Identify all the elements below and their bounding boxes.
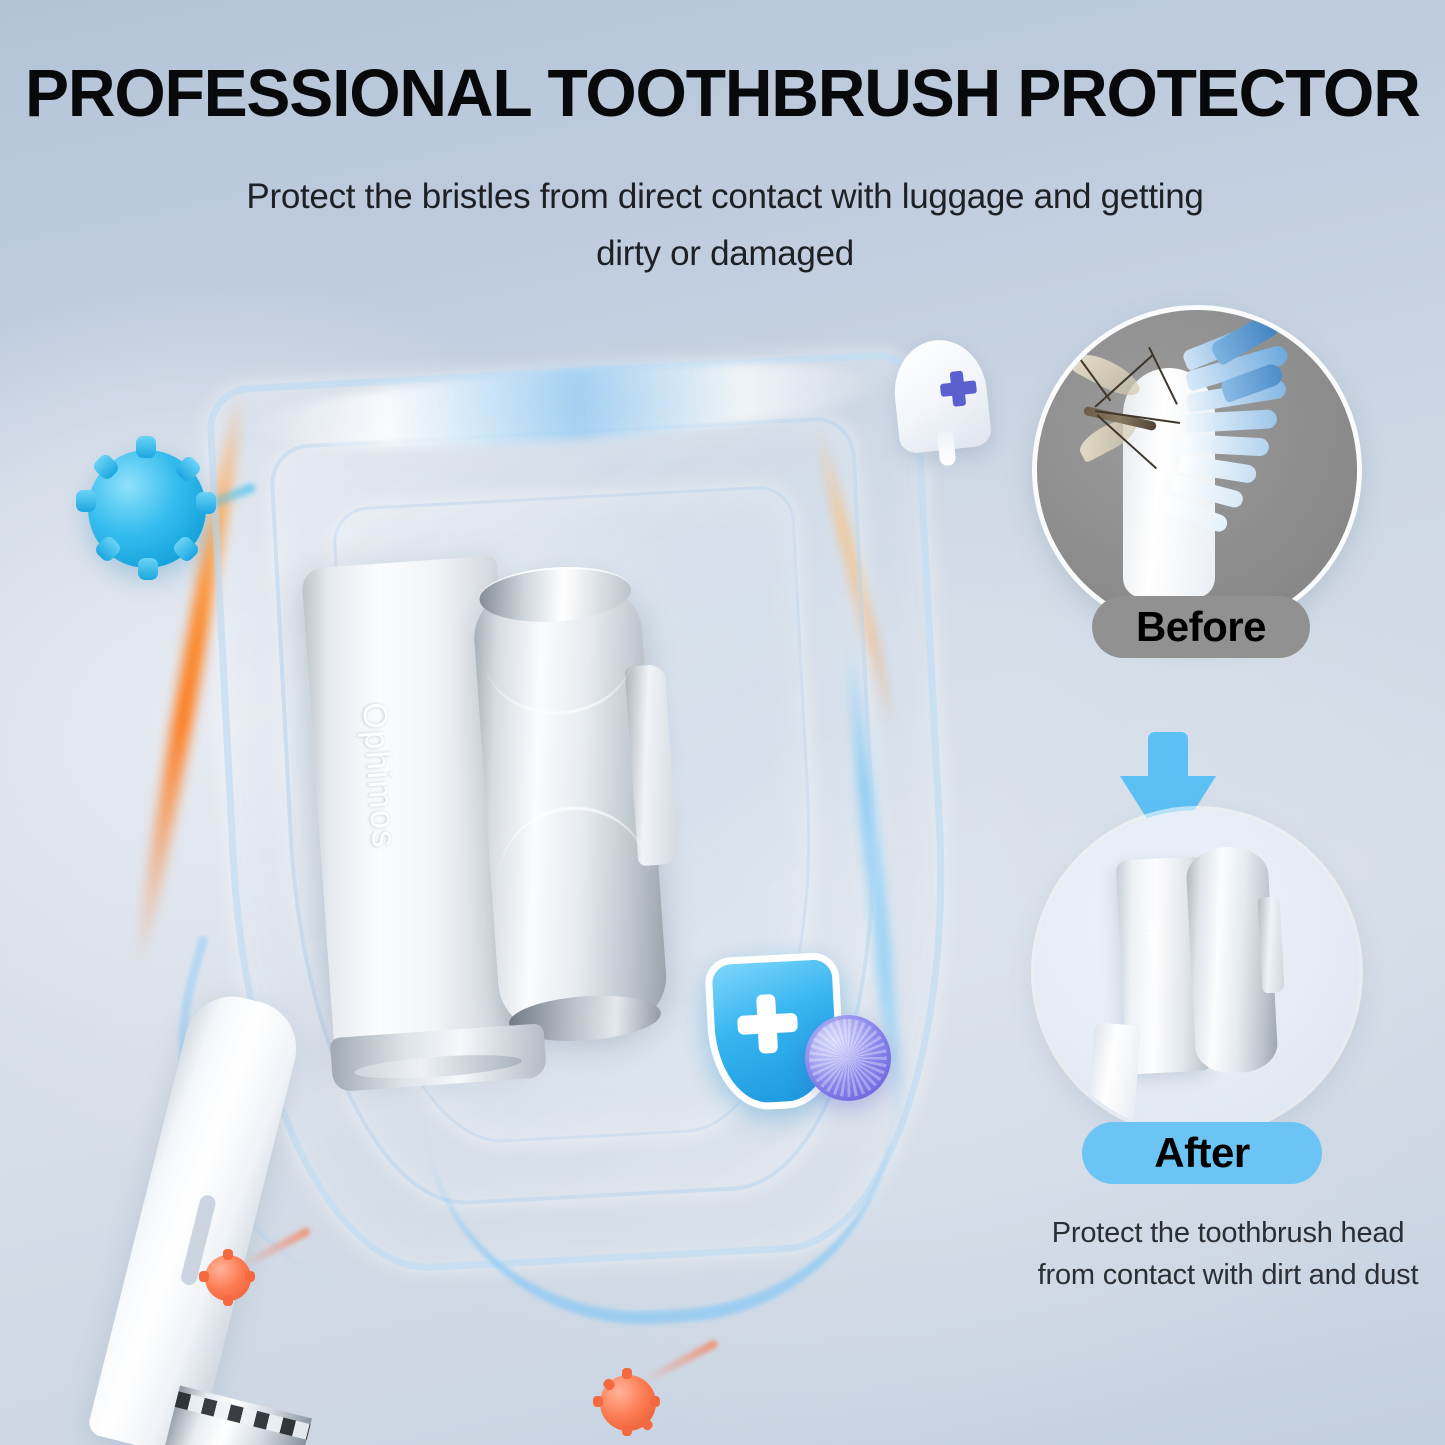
virus-icon-blue: [88, 450, 206, 568]
after-caption: Protect the toothbrush head from contact…: [998, 1212, 1445, 1296]
after-label-text: After: [1154, 1129, 1250, 1177]
germ-motion-trail: [641, 1339, 719, 1385]
toothbrush-protector-product: Ophimos: [301, 548, 635, 1068]
hero-scene: Ophimos: [0, 300, 1010, 1445]
before-photo-circle: [1037, 310, 1357, 630]
mini-product-clip: [1258, 896, 1285, 993]
subtitle-line-1: Protect the bristles from direct contact…: [120, 168, 1330, 225]
before-label-text: Before: [1136, 603, 1266, 651]
tooth-icon: [890, 335, 993, 454]
virus-icon-orange-left: [205, 1255, 251, 1301]
page-title: PROFESSIONAL TOOTHBRUSH PROTECTOR: [25, 60, 1404, 127]
virus-icon-orange-bottom: [600, 1375, 656, 1431]
page-subtitle: Protect the bristles from direct contact…: [120, 168, 1330, 282]
after-caption-line-2: from contact with dirt and dust: [998, 1254, 1445, 1296]
after-caption-line-1: Protect the toothbrush head: [998, 1212, 1445, 1254]
subtitle-line-2: dirty or damaged: [120, 225, 1330, 282]
after-photo-circle: Ophimos: [1035, 810, 1359, 1134]
after-label-pill: After: [1082, 1122, 1322, 1184]
protector-on-toothbrush: Ophimos: [1115, 843, 1307, 1082]
product-marketing-image: PROFESSIONAL TOOTHBRUSH PROTECTOR Protec…: [0, 0, 1445, 1445]
mini-toothbrush-handle: [1087, 1023, 1141, 1134]
virus-icon-purple: [805, 1015, 891, 1101]
before-label-pill: Before: [1092, 596, 1310, 658]
before-after-panel: Before Ophimos After Protect the toothbr…: [1010, 300, 1445, 1300]
